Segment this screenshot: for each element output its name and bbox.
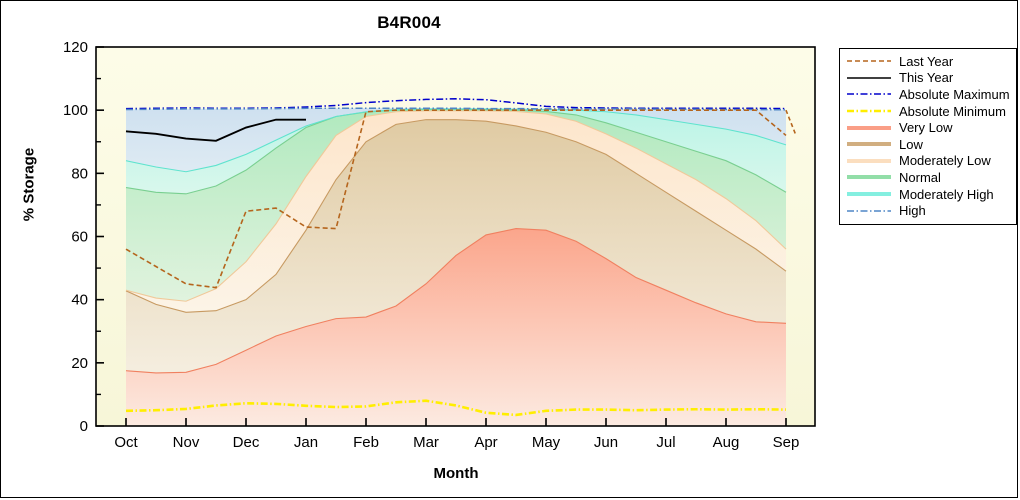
- legend-item-label: Moderately Low: [899, 154, 991, 167]
- legend-item[interactable]: Moderately High: [840, 186, 1016, 203]
- x-tick-label: Aug: [713, 434, 740, 451]
- legend-item-label: Absolute Maximum: [899, 88, 1010, 101]
- x-tick-label: Feb: [353, 434, 379, 451]
- legend-item[interactable]: Low: [840, 136, 1016, 153]
- x-tick-label: Jul: [656, 434, 675, 451]
- legend-item[interactable]: Normal: [840, 169, 1016, 186]
- legend-item-label: Very Low: [899, 121, 952, 134]
- y-tick-label: 120: [63, 39, 88, 56]
- legend-item[interactable]: Moderately Low: [840, 153, 1016, 170]
- legend-item[interactable]: Very Low: [840, 119, 1016, 136]
- y-tick-label: 100: [63, 102, 88, 119]
- y-tick-label: 40: [71, 292, 88, 309]
- legend-swatch-very-low: [846, 122, 892, 134]
- x-tick-label: Jun: [594, 434, 618, 451]
- legend-item-label: Low: [899, 138, 923, 151]
- y-tick-label: 80: [71, 165, 88, 182]
- y-tick-label: 20: [71, 355, 88, 372]
- legend-item-label: Last Year: [899, 55, 953, 68]
- y-tick-label: 0: [80, 418, 88, 435]
- x-tick-label: Oct: [114, 434, 138, 451]
- x-tick-label: Jan: [294, 434, 318, 451]
- legend-item[interactable]: Absolute Minimum: [840, 103, 1016, 120]
- legend-item[interactable]: High: [840, 202, 1016, 219]
- legend-swatch-high: [846, 205, 892, 217]
- legend-item-label: This Year: [899, 71, 953, 84]
- legend-swatch-low: [846, 138, 892, 150]
- legend-swatch-absolute-minimum: [846, 105, 892, 117]
- x-tick-label: Nov: [173, 434, 200, 451]
- chart-legend: Last YearThis YearAbsolute MaximumAbsolu…: [839, 48, 1017, 225]
- legend-item-label: Moderately High: [899, 188, 994, 201]
- percentile-bands: [126, 108, 786, 426]
- x-tick-label: Sep: [773, 434, 800, 451]
- legend-item-label: Normal: [899, 171, 941, 184]
- legend-swatch-last-year: [846, 55, 892, 67]
- legend-swatch-moderately-high: [846, 188, 892, 200]
- legend-item[interactable]: Last Year: [840, 53, 1016, 70]
- legend-item[interactable]: This Year: [840, 70, 1016, 87]
- chart-window: B4R004 % Storage Month: [0, 0, 1018, 498]
- legend-swatch-normal: [846, 171, 892, 183]
- x-tick-label: Dec: [233, 434, 260, 451]
- x-tick-label: Apr: [474, 434, 497, 451]
- x-tick-label: May: [532, 434, 561, 451]
- y-tick-label: 60: [71, 229, 88, 246]
- legend-item-label: High: [899, 204, 926, 217]
- legend-swatch-this-year: [846, 72, 892, 84]
- legend-swatch-moderately-low: [846, 155, 892, 167]
- legend-item[interactable]: Absolute Maximum: [840, 86, 1016, 103]
- x-tick-label: Mar: [413, 434, 439, 451]
- legend-item-label: Absolute Minimum: [899, 105, 1006, 118]
- legend-swatch-absolute-maximum: [846, 88, 892, 100]
